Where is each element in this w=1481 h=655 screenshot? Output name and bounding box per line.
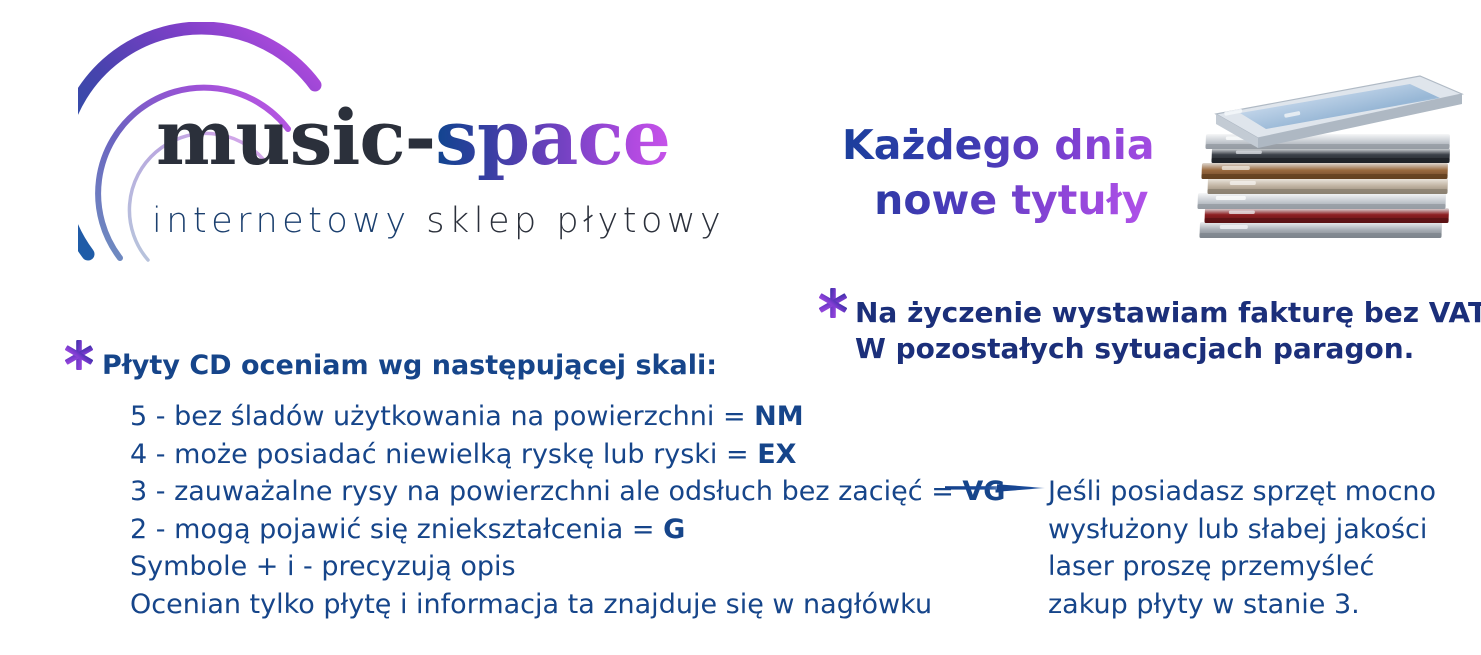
scale-line-grade: G — [663, 514, 685, 545]
scale-line-text: 5 - bez śladów użytkowania na powierzchn… — [130, 401, 754, 432]
scale-line-grade: NM — [754, 401, 803, 432]
scale-line: 2 - mogą pojawić się zniekształcenia = G — [130, 511, 950, 549]
scale-line: Ocenian tylko płytę i informacja ta znaj… — [130, 586, 950, 624]
site-logo[interactable]: music-space internetowy sklep płytowy — [78, 22, 768, 262]
advice-note-line-2: wysłużony lub słabej jakości — [1048, 511, 1448, 549]
headline: Każdego dnia nowe tytuły — [842, 118, 1155, 227]
scale-line-text: Ocenian tylko płytę i informacja ta znaj… — [130, 589, 932, 620]
logo-tagline-part1: internetowy — [152, 201, 426, 241]
scale-line-text: 2 - mogą pojawić się zniekształcenia = — [130, 514, 663, 545]
advice-note-line-3: laser proszę przemyśleć — [1048, 548, 1448, 586]
scale-heading-before: Płyty — [102, 350, 189, 381]
scale-heading-after: oceniam wg następującej skali: — [232, 350, 717, 381]
scale-line-text: 4 - może posiadać niewielką ryskę lub ry… — [130, 439, 757, 470]
logo-wordmark: music-space — [156, 100, 670, 176]
scale-line: 3 - zauważalne rysy na powierzchni ale o… — [130, 473, 950, 511]
scale-line-grade: EX — [757, 439, 796, 470]
headline-line-2: nowe tytuły — [842, 173, 1155, 228]
advice-note: Jeśli posiadasz sprzęt mocno wysłużony l… — [1048, 473, 1448, 623]
headline-line-1: Każdego dnia — [842, 118, 1155, 173]
cd-jewel-case-stack-photo — [1192, 58, 1472, 276]
logo-word-dash: - — [405, 93, 436, 182]
vat-note-line-1: Na życzenie wystawiam fakturę bez VAT. — [855, 295, 1435, 331]
vat-note-line-2: W pozostałych sytuacjach paragon. — [855, 331, 1435, 367]
advice-note-line-1: Jeśli posiadasz sprzęt mocno — [1048, 473, 1448, 511]
logo-word-music: music — [156, 93, 405, 182]
scale-line: Symbole + i - precyzują opis — [130, 548, 950, 586]
scale-line-text: 3 - zauważalne rysy na powierzchni ale o… — [130, 476, 962, 507]
vat-note: Na życzenie wystawiam fakturę bez VAT. W… — [855, 295, 1435, 367]
scale-line: 5 - bez śladów użytkowania na powierzchn… — [130, 398, 950, 436]
scale-line-text: Symbole + i - precyzują opis — [130, 551, 516, 582]
logo-word-space: space — [435, 93, 670, 182]
scale-heading-cd: CD — [189, 350, 231, 381]
banner-canvas: music-space internetowy sklep płytowy Ka… — [0, 0, 1481, 655]
logo-tagline-part2: sklep płytowy — [426, 201, 725, 241]
scale-heading: Płyty CD oceniam wg następującej skali: — [102, 352, 717, 379]
scale-line: 4 - może posiadać niewielką ryskę lub ry… — [130, 436, 950, 474]
asterisk-icon — [816, 286, 850, 320]
advice-note-line-4: zakup płyty w stanie 3. — [1048, 586, 1448, 624]
arrow-right-icon — [945, 480, 1045, 496]
scale-list: 5 - bez śladów użytkowania na powierzchn… — [130, 398, 950, 623]
asterisk-icon — [62, 338, 96, 372]
logo-tagline: internetowy sklep płytowy — [152, 204, 725, 239]
